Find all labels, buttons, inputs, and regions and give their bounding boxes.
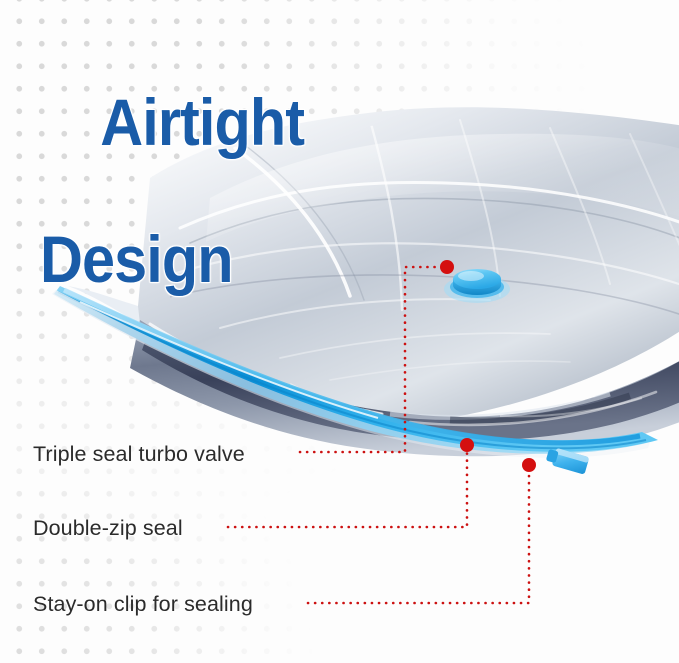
product-feature-graphic: Airtight Design Triple seal turbo valve …	[0, 0, 679, 663]
valve-cap-highlight	[458, 271, 484, 281]
callout-label-stay-on-clip-for-sealing: Stay-on clip for sealing	[33, 592, 253, 617]
callout-label-triple-seal-turbo-valve: Triple seal turbo valve	[33, 442, 245, 467]
product-photo-vacuum-storage-bag	[30, 28, 679, 483]
callout-label-double-zip-seal: Double-zip seal	[33, 516, 183, 541]
